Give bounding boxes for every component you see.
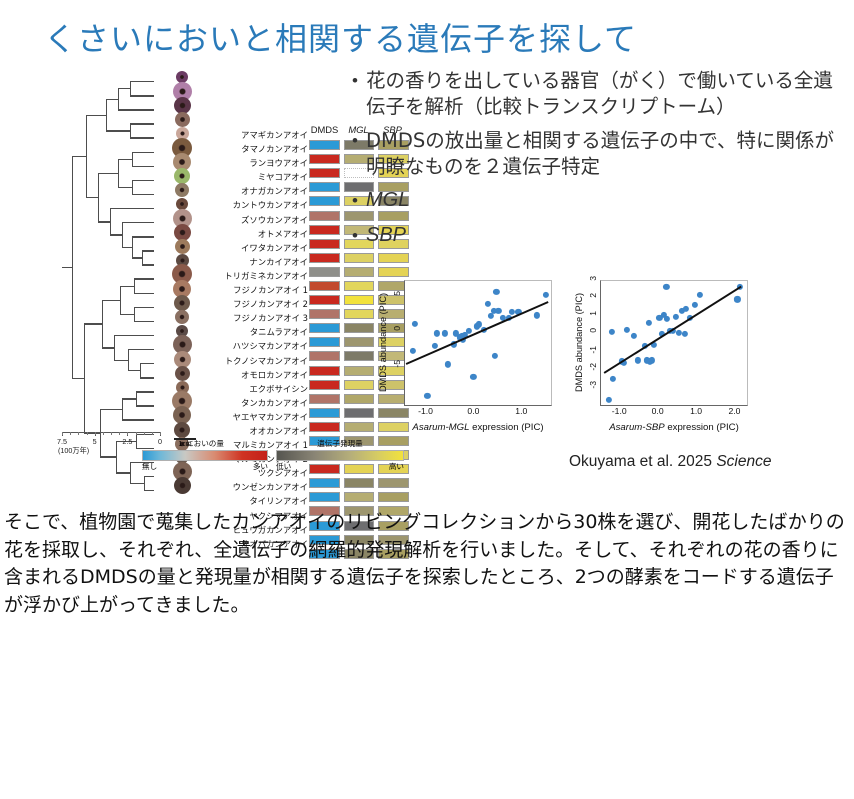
taxon-label: ミヤコアオイ (216, 170, 308, 184)
x-tick-label: -1.0 (418, 406, 433, 416)
scatter-sbp-xlabel-italic: Asarum-SBP (609, 422, 664, 433)
scatter-point (493, 289, 499, 295)
scatter-sbp-xlabel: Asarum-SBP expression (PIC) (586, 422, 762, 433)
legend-expression-low: 低い (276, 461, 291, 472)
taxon-label: カントウカンアオイ (216, 198, 308, 212)
matrix-cell (309, 408, 340, 418)
tree-branch (84, 323, 102, 324)
scatter-point (534, 312, 540, 318)
matrix-header-dmds: DMDS (309, 124, 340, 138)
matrix-cell (309, 351, 340, 361)
matrix-cell (309, 239, 340, 249)
scatter-point (673, 314, 679, 320)
scatter-point (491, 353, 497, 359)
tree-branch (132, 236, 133, 257)
matrix-cell (344, 337, 375, 347)
y-tick-label: -2 (588, 363, 598, 371)
taxon-label: ランヨウアオイ (216, 156, 308, 170)
taxon-label: ウンゼンカンアオイ (216, 480, 308, 494)
taxon-label: ヤエヤマカンアオイ (216, 410, 308, 424)
tree-branch (132, 166, 154, 167)
taxon-label: イワタカンアオイ (216, 241, 308, 255)
tree-branch (120, 286, 134, 287)
scatter-mgl-xlabel-rest: expression (PIC) (469, 422, 543, 433)
scatter-point (664, 315, 670, 321)
bullet-marker: • (352, 68, 366, 119)
matrix-cell (309, 366, 340, 376)
tree-branch (72, 378, 84, 379)
matrix-cell (309, 394, 340, 404)
tree-branch (110, 208, 111, 234)
taxon-label: フジノカンアオイ 3 (216, 311, 308, 325)
taxa-name-list: アマギカンアオイタマノカンアオイランヨウアオイミヤコアオイオナガカンアオイカント… (216, 128, 308, 551)
matrix-row (309, 476, 413, 490)
taxon-label: アマギカンアオイ (216, 128, 308, 142)
bullet-marker: • (352, 188, 366, 214)
x-tick-label: 1.0 (515, 406, 527, 416)
matrix-cell (344, 323, 375, 333)
legend-expression-colorbar (276, 450, 404, 461)
tree-branch (114, 335, 154, 336)
scatter-point (634, 357, 640, 363)
flower-photo (175, 239, 190, 254)
matrix-cell (344, 295, 375, 305)
tree-branch (140, 363, 141, 377)
x-tick-label: 0.0 (467, 406, 479, 416)
matrix-cell (309, 267, 340, 277)
scatter-point (485, 301, 491, 307)
flower-photo (175, 310, 189, 324)
x-tick-label: -1.0 (612, 406, 627, 416)
matrix-cell (309, 492, 340, 502)
bullet-text: DMDSの放出量と相関する遺伝子の中で、特に関係が明瞭なものを２遺伝子特定 (366, 128, 852, 179)
tree-branch (130, 81, 131, 95)
y-tick-label: -5 (392, 360, 402, 368)
tree-branch (106, 99, 118, 100)
taxon-label: オオカンアオイ (216, 424, 308, 438)
matrix-cell (344, 408, 375, 418)
scatter-point (682, 331, 688, 337)
taxon-label: ナンカイアオイ (216, 255, 308, 269)
matrix-cell (344, 478, 375, 488)
tree-branch (128, 349, 154, 350)
matrix-cell (309, 196, 340, 206)
matrix-cell (344, 380, 375, 390)
scatter-point (697, 292, 703, 298)
tree-branch (102, 300, 103, 348)
page-title: くさいにおいと相関する遺伝子を探して (44, 14, 637, 60)
scatter-point (543, 292, 549, 298)
matrix-cell (344, 366, 375, 376)
bullet-marker: • (352, 128, 366, 179)
y-tick-label: 5 (392, 291, 402, 296)
citation-journal: Science (716, 453, 771, 470)
matrix-cell (309, 140, 340, 150)
bullet-text: SBP (366, 223, 406, 249)
bullet-item: •MGL (352, 188, 852, 214)
y-tick-label: 1 (588, 311, 598, 316)
axis-minor-tick (103, 432, 104, 435)
bullet-text: 花の香りを出している器官（がく）で働いている全遺伝子を解析（比較トランスクリプト… (366, 68, 852, 119)
taxon-label: ハツシマカンアオイ (216, 339, 308, 353)
matrix-cell (309, 380, 340, 390)
tree-branch (132, 194, 154, 195)
regression-line (406, 301, 549, 364)
scatter-sbp-plot-area (600, 280, 748, 406)
axis-minor-tick (78, 432, 79, 435)
matrix-cell (309, 422, 340, 432)
tree-branch (86, 115, 87, 197)
scatter-plot-sbp: DMDS abundance (PIC) -3-2-10123 -1.00.01… (574, 272, 764, 450)
matrix-cell (309, 281, 340, 291)
body-paragraph: そこで、植物園で蒐集したカンアオイのリビングコレクションから30株を選び、開花し… (4, 509, 850, 619)
tree-branch (120, 286, 121, 314)
tree-branch (72, 156, 86, 157)
y-tick-label: 0 (588, 328, 598, 333)
flower-photo (174, 168, 190, 184)
flower-photo (174, 295, 190, 311)
scatter-point (609, 329, 615, 335)
tree-branch (114, 335, 115, 360)
tree-branch (98, 221, 110, 222)
tree-branch (134, 278, 154, 279)
phylogenetic-tree (60, 70, 156, 430)
flower-photo (175, 366, 190, 381)
axis-minor-tick (87, 432, 88, 435)
taxon-label: ズソウカンアオイ (216, 213, 308, 227)
tree-branch (122, 222, 154, 223)
tree-branch (98, 173, 118, 174)
tree-branch (118, 159, 119, 187)
taxon-label: タマノカンアオイ (216, 142, 308, 156)
flower-photo (174, 477, 191, 494)
taxon-label: タイリンアオイ (216, 494, 308, 508)
scatter-point (646, 320, 652, 326)
tree-branch (128, 349, 129, 370)
tree-branch (62, 267, 72, 268)
scatter-mgl-xlabel: Asarum-MGL expression (PIC) (390, 422, 566, 433)
tree-branch (122, 398, 136, 399)
matrix-cell (378, 492, 409, 502)
tree-branch (86, 197, 98, 198)
taxon-label: フジノカンアオイ 2 (216, 297, 308, 311)
bullet-text: MGL (366, 188, 409, 214)
tree-branch (132, 257, 142, 258)
matrix-cell (309, 168, 340, 178)
tree-branch (134, 278, 135, 292)
matrix-cell (344, 267, 375, 277)
bullet-marker: • (352, 223, 366, 249)
taxon-label: エクボサイシン (216, 382, 308, 396)
matrix-cell (309, 323, 340, 333)
tree-branch (114, 360, 128, 361)
flower-photo (174, 351, 191, 368)
tree-branch (120, 314, 134, 315)
tree-branch (130, 123, 131, 137)
tree-branch (130, 137, 154, 138)
axis-minor-tick (127, 432, 128, 435)
tree-branch (122, 222, 123, 247)
bullet-item: •SBP (352, 223, 852, 249)
taxon-label: タニムラアオイ (216, 325, 308, 339)
tree-branch (128, 370, 140, 371)
matrix-cell (309, 211, 340, 221)
scatter-point (663, 284, 669, 290)
axis-minor-tick (70, 432, 71, 435)
scatter-sbp-yticks: -3-2-10123 (587, 280, 599, 404)
axis-minor-tick (144, 432, 145, 435)
scatter-mgl-yticks: -505 (391, 280, 403, 404)
scatter-sbp-ylabel: DMDS abundance (PIC) (574, 284, 584, 400)
tree-branch (118, 88, 119, 109)
flower-photo-strip (152, 66, 216, 434)
scatter-point (734, 296, 740, 302)
taxon-label: オモロカンアオイ (216, 368, 308, 382)
tree-branch (132, 180, 133, 194)
tree-branch (72, 156, 73, 378)
axis-minor-tick (160, 432, 161, 435)
taxon-label: トリガミネカンアオイ (216, 269, 308, 283)
scatter-point (434, 330, 440, 336)
y-tick-label: 3 (588, 276, 598, 281)
legend-smell-low: 無し (142, 461, 157, 472)
tree-branch (144, 476, 145, 490)
legend-smell-high: 多い (253, 461, 268, 472)
scatter-point (624, 327, 630, 333)
tree-branch (86, 115, 106, 116)
tree-branch (110, 208, 154, 209)
y-tick-label: 0 (392, 326, 402, 331)
scatter-mgl-xticks: -1.00.01.0 (404, 406, 550, 418)
matrix-cell (309, 225, 340, 235)
axis-minor-tick (136, 432, 137, 435)
axis-minor-tick (152, 432, 153, 435)
taxon-label: トクノシマカンアオイ (216, 354, 308, 368)
matrix-cell (309, 337, 340, 347)
matrix-cell (309, 154, 340, 164)
scatter-plots: DMDS abundance (PIC) -505 -1.00.01.0 Asa… (378, 272, 778, 450)
matrix-row (309, 490, 413, 504)
scatter-point (442, 330, 448, 336)
tree-branch (136, 391, 137, 405)
tree-branch (130, 123, 154, 124)
x-tick-label: 0.0 (652, 406, 664, 416)
axis-minor-tick (62, 432, 63, 435)
scatter-mgl-ylabel: DMDS abundance (PIC) (378, 284, 388, 400)
tree-branch (100, 409, 122, 410)
scatter-point (631, 333, 637, 339)
scatter-plot-mgl: DMDS abundance (PIC) -505 -1.00.01.0 Asa… (378, 272, 568, 450)
scatter-mgl-plot-area (404, 280, 552, 406)
tree-branch (144, 476, 154, 477)
scatter-point (649, 357, 655, 363)
matrix-cell (344, 309, 375, 319)
axis-tick-label: 5 (93, 437, 97, 446)
flower-photo (174, 422, 190, 438)
tree-branch (132, 236, 154, 237)
scatter-point (445, 361, 451, 367)
scatter-mgl-xlabel-italic: Asarum-MGL (412, 422, 469, 433)
axis-minor-tick (111, 432, 112, 435)
matrix-cell (344, 492, 375, 502)
scatter-point (610, 376, 616, 382)
citation: Okuyama et al. 2025 Science (569, 453, 772, 471)
matrix-cell (378, 478, 409, 488)
y-tick-label: -3 (588, 381, 598, 389)
scatter-point (470, 374, 476, 380)
tree-branch (106, 99, 107, 131)
legend-expression-high: 高い (389, 461, 404, 472)
taxon-label: オトメアオイ (216, 227, 308, 241)
matrix-cell (309, 309, 340, 319)
tree-branch (122, 247, 132, 248)
tree-branch (116, 472, 130, 473)
tree-branch (132, 152, 133, 166)
y-tick-label: 2 (588, 293, 598, 298)
tree-branch (106, 130, 130, 131)
tree-branch (132, 152, 154, 153)
y-tick-label: -1 (588, 346, 598, 354)
tree-branch (142, 250, 143, 264)
bullet-list: •花の香りを出している器官（がく）で働いている全遺伝子を解析（比較トランスクリプ… (352, 68, 852, 257)
scatter-point (606, 397, 612, 403)
matrix-cell (309, 182, 340, 192)
matrix-cell (309, 295, 340, 305)
tree-branch (122, 419, 154, 420)
scatter-point (411, 321, 417, 327)
matrix-cell (344, 351, 375, 361)
tree-branch (102, 300, 120, 301)
tree-branch (98, 173, 99, 221)
tree-branch (134, 307, 154, 308)
taxon-label: タンカカンアオイ (216, 396, 308, 410)
time-axis-unit: (100万年) (58, 446, 89, 456)
matrix-cell (344, 281, 375, 291)
tree-branch (118, 159, 132, 160)
x-tick-label: 1.0 (690, 406, 702, 416)
x-tick-label: 2.0 (728, 406, 740, 416)
tree-branch (122, 398, 123, 419)
tree-branch (118, 88, 130, 89)
scatter-sbp-xticks: -1.00.01.02.0 (600, 406, 746, 418)
scatter-point (495, 308, 501, 314)
tree-branch (134, 321, 154, 322)
matrix-cell (344, 394, 375, 404)
scatter-sbp-xlabel-rest: expression (PIC) (665, 422, 739, 433)
tree-branch (110, 234, 122, 235)
bullet-item: •花の香りを出している器官（がく）で働いている全遺伝子を解析（比較トランスクリプ… (352, 68, 852, 119)
scatter-point (509, 309, 515, 315)
tree-branch (130, 81, 154, 82)
tree-branch (118, 187, 132, 188)
scatter-point (410, 347, 416, 353)
tree-branch (134, 307, 135, 321)
matrix-cell (309, 478, 340, 488)
tree-branch (84, 323, 85, 432)
matrix-cell (344, 422, 375, 432)
axis-tick-label: 7.5 (57, 437, 67, 446)
tree-branch (130, 462, 131, 483)
phylogeny-figure: アマギカンアオイタマノカンアオイランヨウアオイミヤコアオイオナガカンアオイカント… (60, 62, 350, 474)
taxon-label: オナガカンアオイ (216, 184, 308, 198)
citation-authors: Okuyama et al. 2025 (569, 453, 716, 470)
flower-photo (175, 183, 189, 197)
tree-branch (130, 483, 144, 484)
tree-branch (118, 109, 154, 110)
axis-minor-tick (95, 432, 96, 435)
taxon-label: フジノカンアオイ 1 (216, 283, 308, 297)
matrix-cell (309, 253, 340, 263)
bullet-item: •DMDSの放出量と相関する遺伝子の中で、特に関係が明瞭なものを２遺伝子特定 (352, 128, 852, 179)
scatter-point (683, 306, 689, 312)
axis-minor-tick (119, 432, 120, 435)
flower-photo (175, 112, 190, 127)
tree-branch (132, 180, 154, 181)
tree-branch (102, 347, 114, 348)
axis-tick-label: 2.5 (122, 437, 132, 446)
tree-branch (144, 490, 154, 491)
scatter-point (424, 393, 430, 399)
legend-smell-colorbar (142, 450, 268, 461)
scatter-point (692, 301, 698, 307)
tree-branch (134, 293, 154, 294)
legend-smell: においの量 無し 多い (142, 438, 268, 472)
legend-smell-title: においの量 (142, 438, 268, 449)
tree-branch (130, 95, 154, 96)
